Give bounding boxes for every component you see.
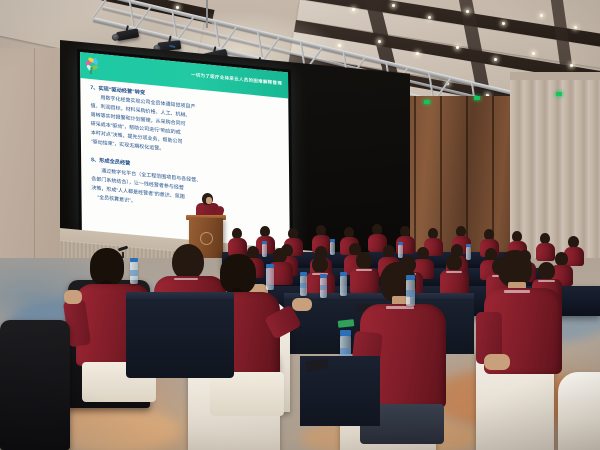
bottle-label	[406, 290, 415, 297]
table-top	[284, 293, 474, 299]
downlight	[378, 40, 381, 43]
bottle-cap	[466, 244, 471, 247]
bottle-label	[130, 270, 138, 276]
table-top	[126, 292, 234, 299]
exit-sign	[424, 100, 430, 104]
downlight	[338, 44, 341, 47]
exit-sign	[474, 96, 480, 100]
bottle-cap	[320, 274, 327, 278]
water-bottle	[466, 247, 471, 260]
water-bottle	[340, 276, 347, 296]
downlight	[176, 6, 179, 9]
bottle-cap	[406, 275, 415, 280]
bottle-cap	[130, 258, 138, 262]
bottle-cap	[300, 272, 307, 276]
slide-block-number: 8、形成全员经营	[91, 156, 130, 167]
bottle-label	[300, 283, 307, 288]
bottle-label	[320, 285, 327, 290]
water-bottle	[398, 245, 403, 258]
presentation-slide: 一切为了医疗业体采业人员的困难解释管理 7、实现“驱动经营”转变 用数字化经营实…	[80, 52, 290, 253]
bottle-cap	[340, 272, 347, 276]
bottle-cap	[340, 330, 351, 336]
downlight	[532, 52, 535, 55]
truss-drop-rod	[206, 0, 208, 28]
presenter-face	[206, 197, 212, 204]
slide-line: “全员核算意识”。	[97, 194, 135, 205]
water-bottle	[266, 268, 274, 290]
water-bottle	[330, 242, 335, 255]
downlight	[574, 26, 577, 29]
conference-room-photo: 一切为了医疗业体采业人员的困难解释管理 7、实现“驱动经营”转变 用数字化经营实…	[0, 0, 600, 450]
exit-sign	[556, 92, 562, 96]
downlight	[466, 10, 469, 13]
downlight	[416, 52, 419, 55]
downlight	[494, 58, 497, 61]
downlight	[428, 16, 431, 19]
downlight	[570, 64, 573, 67]
downlight	[502, 22, 505, 25]
projection-screen: 一切为了医疗业体采业人员的困难解释管理 7、实现“驱动经营”转变 用数字化经营实…	[80, 52, 290, 253]
downlight	[392, 4, 395, 7]
chair	[0, 320, 70, 450]
slide-block-number: 7、实现“驱动经营”转变	[90, 84, 145, 96]
bottle-cap	[262, 241, 267, 244]
downlight	[352, 8, 355, 11]
downlight	[456, 46, 459, 49]
water-bottle	[262, 244, 267, 257]
downlight	[540, 14, 543, 17]
bottle-cap	[266, 264, 274, 268]
podium-emblem	[200, 232, 213, 245]
chair	[558, 372, 600, 450]
bottle-cap	[330, 239, 335, 242]
bottle-cap	[398, 242, 403, 245]
bottle-label	[340, 348, 351, 356]
pinwheel-flower-logo	[84, 55, 102, 75]
table-row	[126, 296, 234, 378]
